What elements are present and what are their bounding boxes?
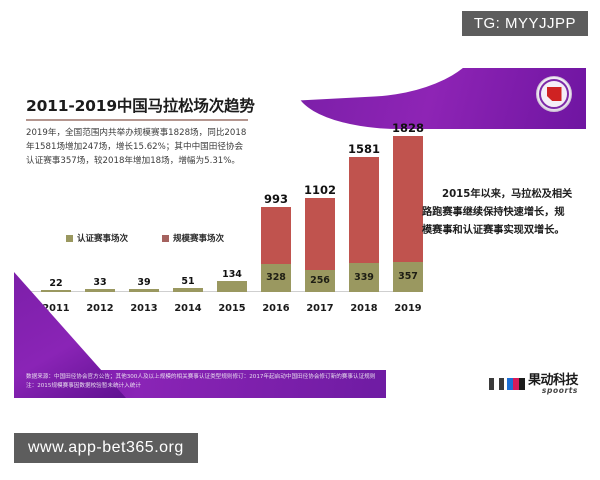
bar-group-2018: 1581339 xyxy=(349,96,379,292)
chart-x-tick-labels: 201120122013201420152016201720182019 xyxy=(30,296,420,314)
bar-total-label: 134 xyxy=(222,270,242,280)
chart-plot-area: 22333951134993328110225615813391828357 xyxy=(30,96,420,292)
bar-segment-scale xyxy=(393,136,423,262)
bar-2019: 357 xyxy=(393,136,423,292)
side-note: 2015年以来，马拉松及相关路跑赛事继续保持快速增长，规模赛事和认证赛事实现双增… xyxy=(422,186,574,240)
bar-total-label: 33 xyxy=(93,278,106,288)
bar-total-label: 39 xyxy=(137,278,150,288)
bar-2015 xyxy=(217,281,247,292)
bar-group-2015: 134 xyxy=(217,96,247,292)
color-squares-icon xyxy=(507,378,525,390)
brand-logo: 果动科技 spoorts xyxy=(484,374,578,395)
emblem-core-shape xyxy=(547,87,562,101)
bar-certified-label: 357 xyxy=(398,272,418,282)
bar-segment-certified xyxy=(129,289,159,292)
x-tick-2015: 2015 xyxy=(212,303,252,314)
bar-total-label: 51 xyxy=(181,277,194,287)
bar-total-label: 1828 xyxy=(392,123,424,135)
footnote-block: 数据来源：中国田径协会官方公告；其他300人及以上规模的相关赛事认证类型规则修订… xyxy=(26,373,496,390)
slide-canvas: 2011-2019中国马拉松场次趋势 2019年，全国范围内共举办规模赛事182… xyxy=(0,0,600,480)
emblem-ring xyxy=(539,79,569,109)
bar-chart: 22333951134993328110225615813391828357 2… xyxy=(30,88,420,318)
bar-2013 xyxy=(129,289,159,292)
brand-text: 果动科技 spoorts xyxy=(528,374,578,395)
bar-segment-certified xyxy=(85,289,115,292)
bar-certified-label: 328 xyxy=(266,273,286,283)
bar-2017: 256 xyxy=(305,198,335,292)
bar-segment-certified: 357 xyxy=(393,262,423,292)
x-tick-2013: 2013 xyxy=(124,303,164,314)
bar-certified-label: 256 xyxy=(310,276,330,286)
bar-group-2011: 22 xyxy=(41,96,71,292)
bar-total-label: 1581 xyxy=(348,144,380,156)
checker-pattern-icon xyxy=(484,378,504,390)
bar-total-label: 993 xyxy=(264,194,288,206)
bar-segment-certified: 328 xyxy=(261,264,291,292)
bar-group-2017: 1102256 xyxy=(305,96,335,292)
bar-2018: 339 xyxy=(349,157,379,292)
bar-2016: 328 xyxy=(261,207,291,292)
brand-name-cn: 果动科技 xyxy=(528,374,578,387)
bar-2011 xyxy=(41,290,71,292)
chinese-athletics-association-emblem-icon xyxy=(536,76,572,112)
bar-total-label: 22 xyxy=(49,279,62,289)
x-tick-2019: 2019 xyxy=(388,303,428,314)
bar-segment-certified xyxy=(173,288,203,292)
telegram-watermark: TG: MYYJJPP xyxy=(462,11,588,36)
square-black xyxy=(519,378,525,390)
x-tick-2016: 2016 xyxy=(256,303,296,314)
bar-2012 xyxy=(85,289,115,292)
bar-certified-label: 339 xyxy=(354,273,374,283)
bar-segment-scale xyxy=(305,198,335,270)
brand-name-en: spoorts xyxy=(528,387,578,395)
x-tick-2018: 2018 xyxy=(344,303,384,314)
presentation-slide: 2011-2019中国马拉松场次趋势 2019年，全国范围内共举办规模赛事182… xyxy=(14,68,586,398)
x-tick-2014: 2014 xyxy=(168,303,208,314)
footnote-line: 数据来源：中国田径协会官方公告；其他300人及以上规模的相关赛事认证类型规则修订… xyxy=(26,373,496,381)
bar-group-2014: 51 xyxy=(173,96,203,292)
bar-segment-scale xyxy=(261,207,291,264)
bar-segment-certified: 339 xyxy=(349,263,379,292)
bar-2014 xyxy=(173,288,203,292)
site-url-watermark: www.app-bet365.org xyxy=(14,433,198,463)
bar-segment-scale xyxy=(349,157,379,263)
bar-total-label: 1102 xyxy=(304,185,336,197)
bar-group-2019: 1828357 xyxy=(393,96,423,292)
bar-segment-certified xyxy=(217,281,247,292)
footnote-line: 注：2015规模赛事因数据校验暂未统计入统计 xyxy=(26,382,496,390)
x-tick-2017: 2017 xyxy=(300,303,340,314)
bar-group-2012: 33 xyxy=(85,96,115,292)
bar-segment-certified xyxy=(41,290,71,292)
x-tick-2012: 2012 xyxy=(80,303,120,314)
bar-segment-certified: 256 xyxy=(305,270,335,292)
bar-group-2013: 39 xyxy=(129,96,159,292)
bar-group-2016: 993328 xyxy=(261,96,291,292)
